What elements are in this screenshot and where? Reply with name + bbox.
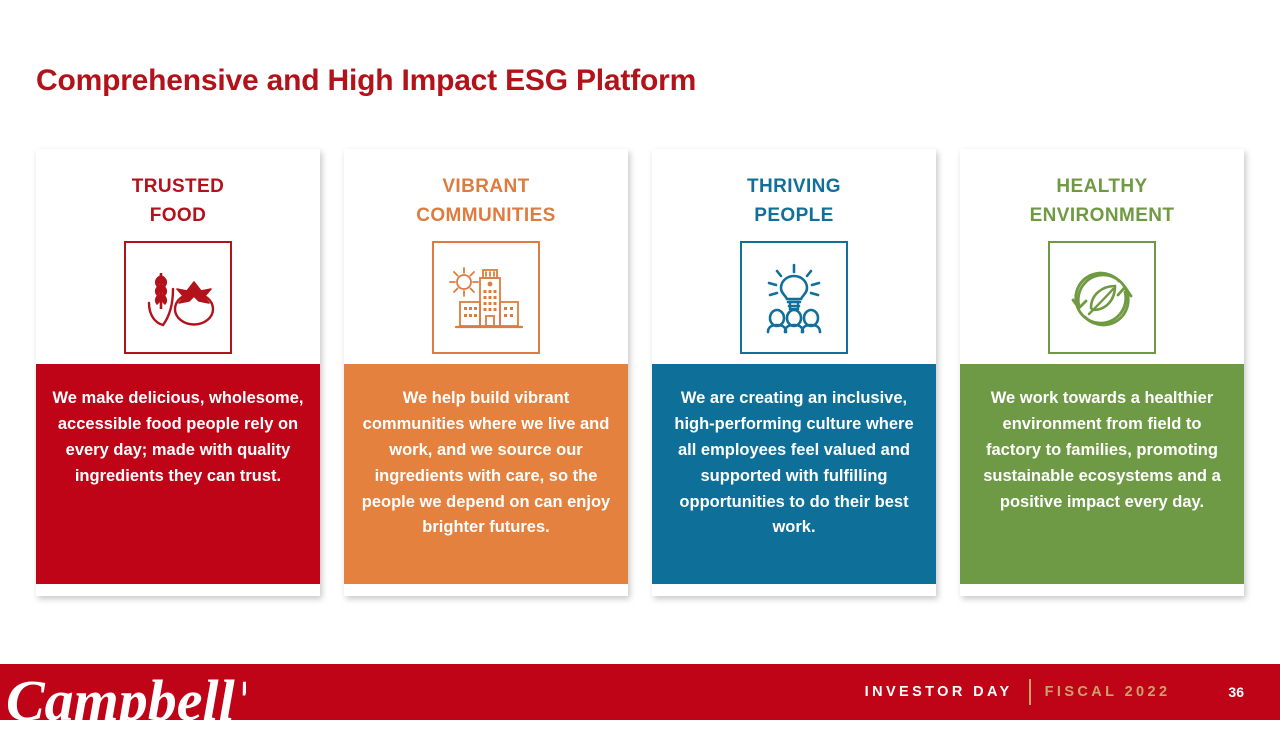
campbells-logo: Campbell's	[6, 668, 246, 730]
page-number: 36	[1228, 684, 1244, 700]
card-footer-strip	[344, 584, 628, 596]
slide: Comprehensive and High Impact ESG Platfo…	[0, 0, 1280, 720]
svg-text:Campbell's: Campbell's	[6, 668, 246, 730]
esg-pillar-cards: TRUSTED FOOD	[36, 149, 1244, 596]
slide-footer: Campbell's INVESTOR DAY FISCAL 2022 36	[0, 664, 1280, 720]
recycle-leaf-icon	[1048, 241, 1156, 354]
card-title-line1: VIBRANT	[442, 176, 529, 197]
card-footer-strip	[36, 584, 320, 596]
card-title-line1: TRUSTED	[132, 176, 225, 197]
pillar-card-vibrant-communities[interactable]: VIBRANT COMMUNITIES	[344, 149, 628, 596]
card-title-line2: ENVIRONMENT	[1030, 205, 1175, 226]
card-title-line2: COMMUNITIES	[416, 205, 556, 226]
card-body: We help build vibrant communities where …	[344, 364, 628, 584]
card-title: TRUSTED FOOD	[132, 173, 225, 230]
sun-buildings-icon	[432, 241, 540, 354]
card-body: We make delicious, wholesome, accessible…	[36, 364, 320, 584]
card-header: HEALTHY ENVIRONMENT	[960, 149, 1244, 364]
card-title: VIBRANT COMMUNITIES	[416, 173, 556, 230]
page-title: Comprehensive and High Impact ESG Platfo…	[36, 64, 696, 98]
card-title-line2: PEOPLE	[754, 205, 833, 226]
lightbulb-people-icon	[740, 241, 848, 354]
card-header: VIBRANT COMMUNITIES	[344, 149, 628, 364]
card-header: THRIVING PEOPLE	[652, 149, 936, 364]
card-title: THRIVING PEOPLE	[747, 173, 841, 230]
investor-day-label: INVESTOR DAY	[865, 684, 1013, 700]
wheat-tomato-icon	[124, 241, 232, 354]
pillar-card-healthy-environment[interactable]: HEALTHY ENVIRONMENT We w	[960, 149, 1244, 596]
card-body: We work towards a healthier environment …	[960, 364, 1244, 584]
pillar-card-thriving-people[interactable]: THRIVING PEOPLE	[652, 149, 936, 596]
card-title-line1: THRIVING	[747, 176, 841, 197]
card-header: TRUSTED FOOD	[36, 149, 320, 364]
footer-divider	[1029, 679, 1031, 705]
footer-right-group: INVESTOR DAY FISCAL 2022 36	[865, 664, 1280, 720]
card-title-line1: HEALTHY	[1056, 176, 1147, 197]
card-title-line2: FOOD	[150, 205, 207, 226]
card-footer-strip	[960, 584, 1244, 596]
pillar-card-trusted-food[interactable]: TRUSTED FOOD	[36, 149, 320, 596]
card-body: We are creating an inclusive, high-perfo…	[652, 364, 936, 584]
fiscal-year-label: FISCAL 2022	[1045, 684, 1171, 700]
card-title: HEALTHY ENVIRONMENT	[1030, 173, 1175, 230]
card-footer-strip	[652, 584, 936, 596]
